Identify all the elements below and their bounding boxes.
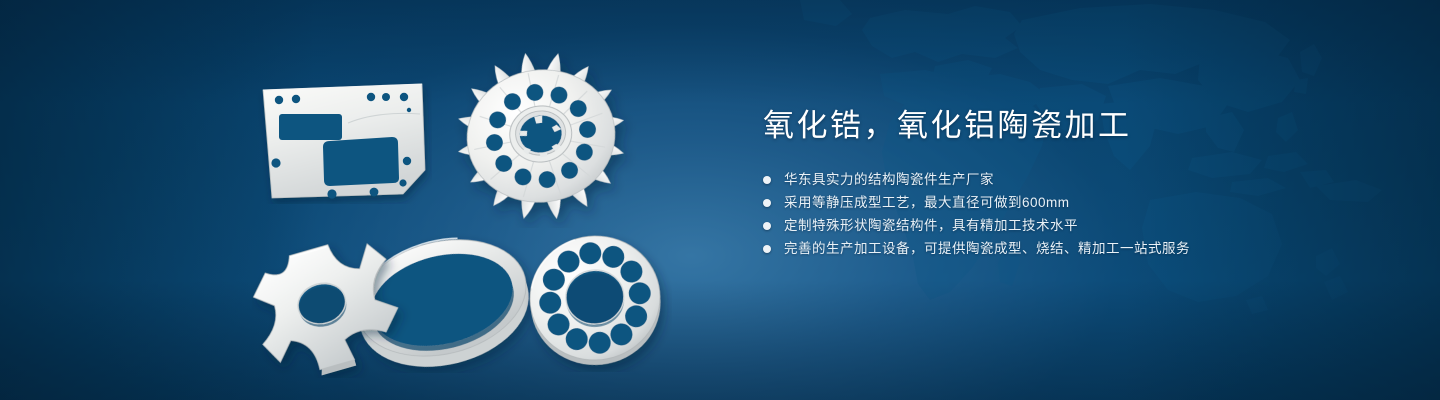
- ceramic-cross-plate: [252, 238, 412, 378]
- feature-text: 定制特殊形状陶瓷结构件，具有精加工技术水平: [784, 215, 1078, 237]
- ceramic-machined-plate: [252, 78, 432, 204]
- hero-banner: 氧化锆，氧化铝陶瓷加工 华东具实力的结构陶瓷件生产厂家 采用等静压成型工艺，最大…: [0, 0, 1440, 400]
- bullet-dot-icon: [763, 176, 771, 184]
- bullet-dot-icon: [763, 199, 771, 207]
- product-image-group: [0, 0, 720, 400]
- list-item: 采用等静压成型工艺，最大直径可做到600mm: [763, 192, 1383, 214]
- ceramic-perforated-ring-disc: [522, 228, 672, 372]
- page-title: 氧化锆，氧化铝陶瓷加工: [763, 104, 1383, 148]
- feature-text: 采用等静压成型工艺，最大直径可做到600mm: [784, 192, 1070, 214]
- banner-copy: 氧化锆，氧化铝陶瓷加工 华东具实力的结构陶瓷件生产厂家 采用等静压成型工艺，最大…: [763, 104, 1383, 261]
- list-item: 定制特殊形状陶瓷结构件，具有精加工技术水平: [763, 215, 1383, 237]
- feature-text: 华东具实力的结构陶瓷件生产厂家: [784, 169, 994, 191]
- feature-text: 完善的生产加工设备，可提供陶瓷成型、烧结、精加工一站式服务: [784, 238, 1190, 260]
- list-item: 华东具实力的结构陶瓷件生产厂家: [763, 169, 1383, 191]
- feature-list: 华东具实力的结构陶瓷件生产厂家 采用等静压成型工艺，最大直径可做到600mm 定…: [763, 169, 1383, 260]
- list-item: 完善的生产加工设备，可提供陶瓷成型、烧结、精加工一站式服务: [763, 238, 1383, 260]
- bullet-dot-icon: [763, 245, 771, 253]
- bullet-dot-icon: [763, 222, 771, 230]
- ceramic-impeller-disc: [448, 48, 638, 228]
